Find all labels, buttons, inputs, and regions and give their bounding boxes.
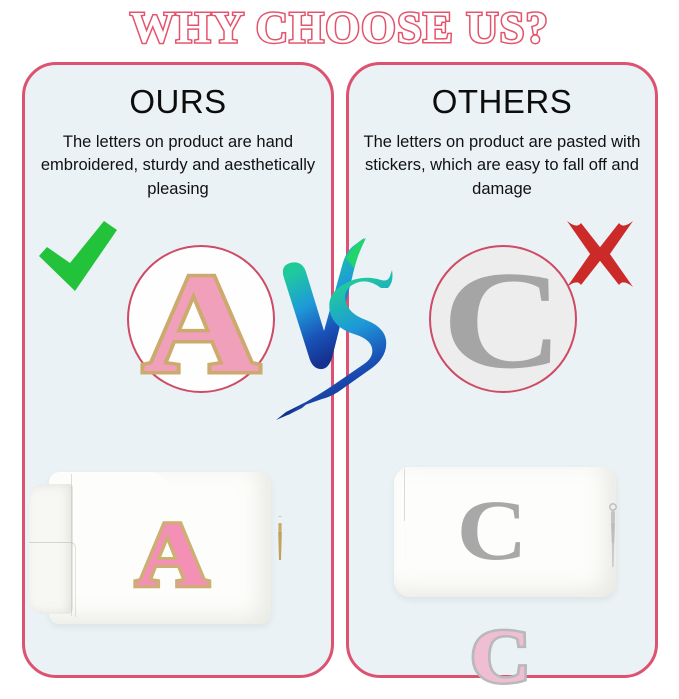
check-icon <box>35 219 121 299</box>
panel-ours-title: OURS <box>25 83 331 121</box>
loose-chenille-patch-letter-c: C <box>470 619 530 695</box>
product-bag-ours: A <box>25 450 331 650</box>
bag-sticker-letter-c: C <box>457 487 528 573</box>
product-bag-others: C C <box>349 447 655 647</box>
page-title-bar: WHY CHOOSE US? <box>0 0 679 56</box>
zipper-pull-gold-icon <box>275 516 285 562</box>
sticker-letter-c: C <box>442 251 563 391</box>
letter-circle-ours: A <box>127 245 275 393</box>
bag-patch-letter-a: A <box>136 508 209 600</box>
chenille-patch-letter-a: A <box>143 252 260 394</box>
zipper-pull-silver-icon <box>607 503 619 569</box>
bag-ours-pocket <box>29 542 76 617</box>
panel-others-description: The letters on product are pasted with s… <box>361 131 643 201</box>
panel-ours-description: The letters on product are hand embroide… <box>37 131 319 201</box>
panel-ours: OURS The letters on product are hand emb… <box>22 62 334 678</box>
page-title: WHY CHOOSE US? <box>130 6 549 50</box>
bag-others-seam <box>404 469 405 521</box>
panel-others-title: OTHERS <box>349 83 655 121</box>
panel-others: OTHERS The letters on product are pasted… <box>346 62 658 678</box>
letter-circle-others: C <box>429 245 577 393</box>
cross-icon <box>561 217 639 293</box>
